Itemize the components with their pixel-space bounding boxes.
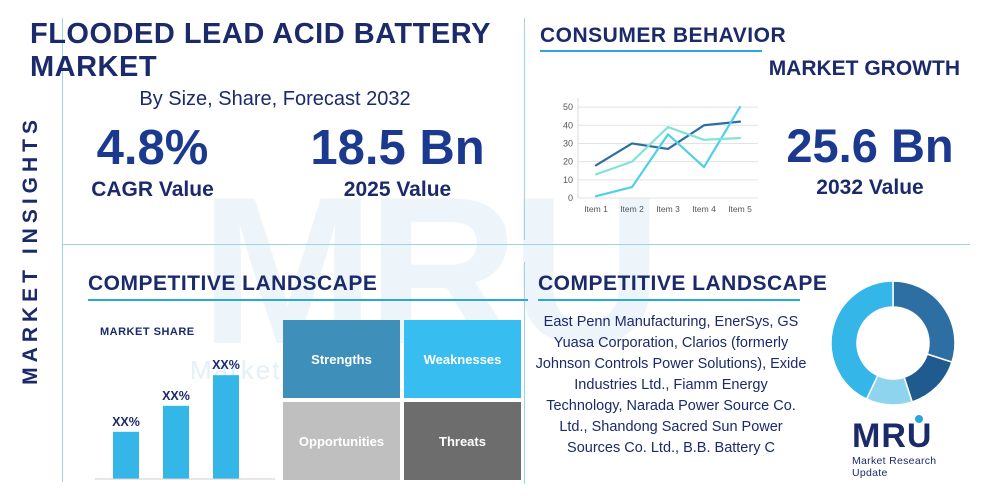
svg-text:Item 5: Item 5 xyxy=(728,204,752,214)
competitive-right-companies: East Penn Manufacturing, EnerSys, GS Yua… xyxy=(535,312,807,459)
kpi-2025-value: 18.5 Bn xyxy=(275,120,520,176)
kpi-cagr-label: CAGR Value xyxy=(30,178,275,202)
page-subtitle: By Size, Share, Forecast 2032 xyxy=(30,88,520,111)
line-chart-yticks: 01020304050 xyxy=(563,102,573,203)
swot-opportunities[interactable]: Opportunities xyxy=(283,402,400,480)
bar-chart: XX%XX%XX% xyxy=(95,335,275,480)
svg-text:40: 40 xyxy=(563,120,573,130)
kpi-2025-label: 2025 Value xyxy=(275,178,520,202)
swot-strengths-label: Strengths xyxy=(311,352,372,367)
svg-text:XX%: XX% xyxy=(112,415,140,429)
swot-grid: Strengths Weaknesses Opportunities Threa… xyxy=(283,320,521,480)
logo-subtext: Market Research Update xyxy=(852,455,972,479)
logo-text: MRU xyxy=(852,418,972,454)
svg-text:20: 20 xyxy=(563,157,573,167)
donut-chart-slices xyxy=(831,281,955,405)
line-chart: 01020304050 Item 1Item 2Item 3Item 4Item… xyxy=(548,92,760,220)
swot-opportunities-label: Opportunities xyxy=(299,434,384,449)
page-title: FLOODED LEAD ACID BATTERY MARKET xyxy=(30,18,520,84)
swot-threats-label: Threats xyxy=(439,434,486,449)
infographic-page: MRU Market Research Update MARKET INSIGH… xyxy=(0,0,1000,500)
divider-top-vertical xyxy=(524,18,525,240)
logo: MRU Market Research Update xyxy=(852,418,972,480)
svg-text:Item 1: Item 1 xyxy=(584,204,608,214)
svg-text:50: 50 xyxy=(563,102,573,112)
consumer-behavior-title: CONSUMER BEHAVIOR xyxy=(540,24,786,48)
svg-text:XX%: XX% xyxy=(162,389,190,403)
competitive-left-title: COMPETITIVE LANDSCAPE xyxy=(88,272,377,296)
svg-text:Item 4: Item 4 xyxy=(692,204,716,214)
swot-threats[interactable]: Threats xyxy=(404,402,521,480)
swot-strengths[interactable]: Strengths xyxy=(283,320,400,398)
svg-text:XX%: XX% xyxy=(212,358,240,372)
competitive-right-title: COMPETITIVE LANDSCAPE xyxy=(538,272,827,296)
swot-weaknesses[interactable]: Weaknesses xyxy=(404,320,521,398)
kpi-row: 4.8% CAGR Value 18.5 Bn 2025 Value xyxy=(30,120,520,202)
competitive-right-underline xyxy=(538,299,800,301)
market-growth-title: MARKET GROWTH xyxy=(540,57,960,81)
competitive-left-underline xyxy=(88,299,528,301)
svg-text:30: 30 xyxy=(563,138,573,148)
svg-text:Item 2: Item 2 xyxy=(620,204,644,214)
consumer-behavior-underline xyxy=(540,50,762,52)
kpi-2025: 18.5 Bn 2025 Value xyxy=(275,120,520,202)
swot-weaknesses-label: Weaknesses xyxy=(424,352,502,367)
kpi-cagr: 4.8% CAGR Value xyxy=(30,120,275,202)
kpi-cagr-value: 4.8% xyxy=(30,120,275,176)
logo-dot-icon xyxy=(915,415,923,423)
svg-text:10: 10 xyxy=(563,175,573,185)
line-chart-series xyxy=(596,107,740,196)
market-growth-label: 2032 Value xyxy=(770,176,970,200)
donut-chart xyxy=(828,278,958,408)
divider-bottom-vertical xyxy=(524,262,525,484)
svg-text:Item 3: Item 3 xyxy=(656,204,680,214)
divider-horizontal xyxy=(62,244,970,245)
line-chart-xticks: Item 1Item 2Item 3Item 4Item 5 xyxy=(584,204,752,214)
market-growth-value: 25.6 Bn xyxy=(770,118,970,173)
svg-text:0: 0 xyxy=(568,193,573,203)
